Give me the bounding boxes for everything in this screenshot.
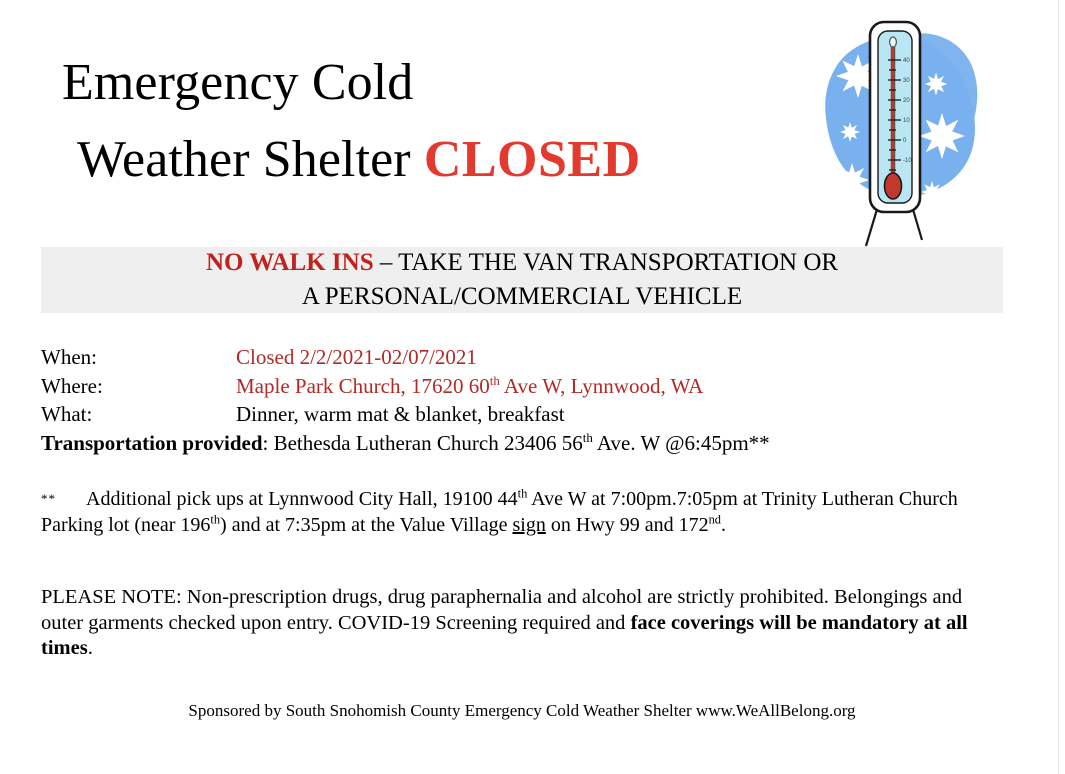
banner-emphasis: NO WALK INS [206,249,374,276]
pickups-text-d: on Hwy 99 and 172 [546,514,709,536]
title-line-2-text: Weather Shelter [77,131,424,188]
detail-row-what: What:Dinner, warm mat & blanket, breakfa… [41,400,1001,429]
title-line-2: Weather Shelter CLOSED [0,121,830,198]
page-title: Emergency Cold Weather Shelter CLOSED [0,44,830,198]
where-label: Where: [41,372,236,401]
what-value: Dinner, warm mat & blanket, breakfast [236,402,565,426]
status-badge-closed: CLOSED [424,131,641,188]
banner-line-1: NO WALK INS – TAKE THE VAN TRANSPORTATIO… [206,246,838,280]
svg-text:-10: -10 [903,158,912,164]
mercury-bulb [885,173,902,199]
when-value: Closed 2/2/2021-02/07/2021 [236,345,477,369]
where-value: Maple Park Church, 17620 60th Ave W, Lyn… [236,374,703,398]
banner-line-1-rest: – TAKE THE VAN TRANSPORTATION OR [374,249,838,276]
svg-text:40: 40 [903,58,910,64]
where-value-ordinal: th [490,373,500,388]
sponsor-line: Sponsored by South Snohomish County Emer… [41,700,1003,722]
pickups-text-e: . [721,514,726,536]
please-note-text-b: . [88,637,93,659]
pickups-ordinal-b: th [210,512,220,526]
pickups-ordinal-c: nd [709,512,721,526]
svg-text:30: 30 [903,78,910,84]
thermometer-icon: 403020 100-10 [816,14,984,250]
transportation-label: Transportation provided [41,431,263,455]
detail-row-where: Where:Maple Park Church, 17620 60th Ave … [41,372,1001,401]
detail-row-when: When:Closed 2/2/2021-02/07/2021 [41,343,1001,372]
transportation-value-b: Ave. W @6:45pm** [593,431,770,455]
pickups-ordinal-a: th [518,486,528,500]
footnote-marker: ** [41,491,56,506]
svg-text:20: 20 [903,98,910,104]
where-value-b: Ave W, Lynnwood, WA [500,374,703,398]
pickups-underlined-word: sign [512,514,545,536]
notice-banner: NO WALK INS – TAKE THE VAN TRANSPORTATIO… [41,247,1003,313]
details-block: When:Closed 2/2/2021-02/07/2021 Where:Ma… [41,343,1001,457]
please-note-paragraph: PLEASE NOTE: Non-prescription drugs, dru… [41,585,991,662]
tube-top [890,37,897,47]
transportation-ordinal: th [583,430,593,445]
pickups-text-c: ) and at 7:35pm at the Value Village [220,514,512,536]
what-label: What: [41,400,236,429]
svg-text:10: 10 [903,118,910,124]
page-edge-line [1058,0,1059,774]
additional-pickups-note: **Additional pick ups at Lynnwood City H… [41,486,971,538]
when-label: When: [41,343,236,372]
title-line-1: Emergency Cold [0,44,830,121]
banner-line-2: A PERSONAL/COMMERCIAL VEHICLE [302,280,742,314]
transportation-value-a: : Bethesda Lutheran Church 23406 56 [263,431,583,455]
detail-row-transportation: Transportation provided: Bethesda Luther… [41,429,1001,458]
where-value-a: Maple Park Church, 17620 60 [236,374,490,398]
pickups-text-a: Additional pick ups at Lynnwood City Hal… [86,488,518,510]
